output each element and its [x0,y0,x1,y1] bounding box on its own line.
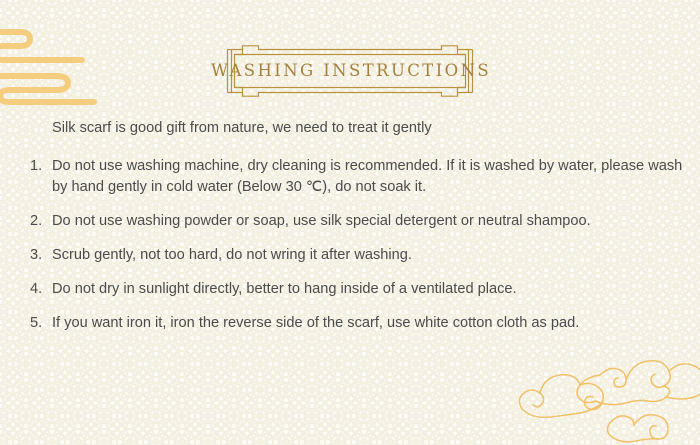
intro-line: Silk scarf is good gift from nature, we … [52,118,672,138]
list-item-text: If you want iron it, iron the reverse si… [52,313,686,334]
title-block: WASHING INSTRUCTIONS [0,44,700,98]
list-item-number: 2. [30,211,48,232]
washing-instructions-card: WASHING INSTRUCTIONS Silk scarf is good … [0,0,700,445]
list-item-text: Scrub gently, not too hard, do not wring… [52,245,686,266]
list-item-text: Do not dry in sunlight directly, better … [52,279,686,300]
list-item: 5. If you want iron it, iron the reverse… [0,313,700,334]
page-title: WASHING INSTRUCTIONS [209,63,491,80]
auspicious-cloud-ornament [514,351,700,445]
content-area: Silk scarf is good gift from nature, we … [0,118,700,334]
list-item: 3. Scrub gently, not too hard, do not wr… [0,245,700,266]
instruction-list: 1. Do not use washing machine, dry clean… [0,156,700,334]
list-item-number: 5. [30,313,48,334]
list-item: 1. Do not use washing machine, dry clean… [0,156,700,198]
list-item-number: 1. [30,156,48,177]
title-frame: WASHING INSTRUCTIONS [222,45,478,97]
list-item: 4. Do not dry in sunlight directly, bett… [0,279,700,300]
list-item-text: Do not use washing machine, dry cleaning… [52,156,686,198]
list-item-number: 4. [30,279,48,300]
list-item: 2. Do not use washing powder or soap, us… [0,211,700,232]
list-item-number: 3. [30,245,48,266]
list-item-text: Do not use washing powder or soap, use s… [52,211,686,232]
